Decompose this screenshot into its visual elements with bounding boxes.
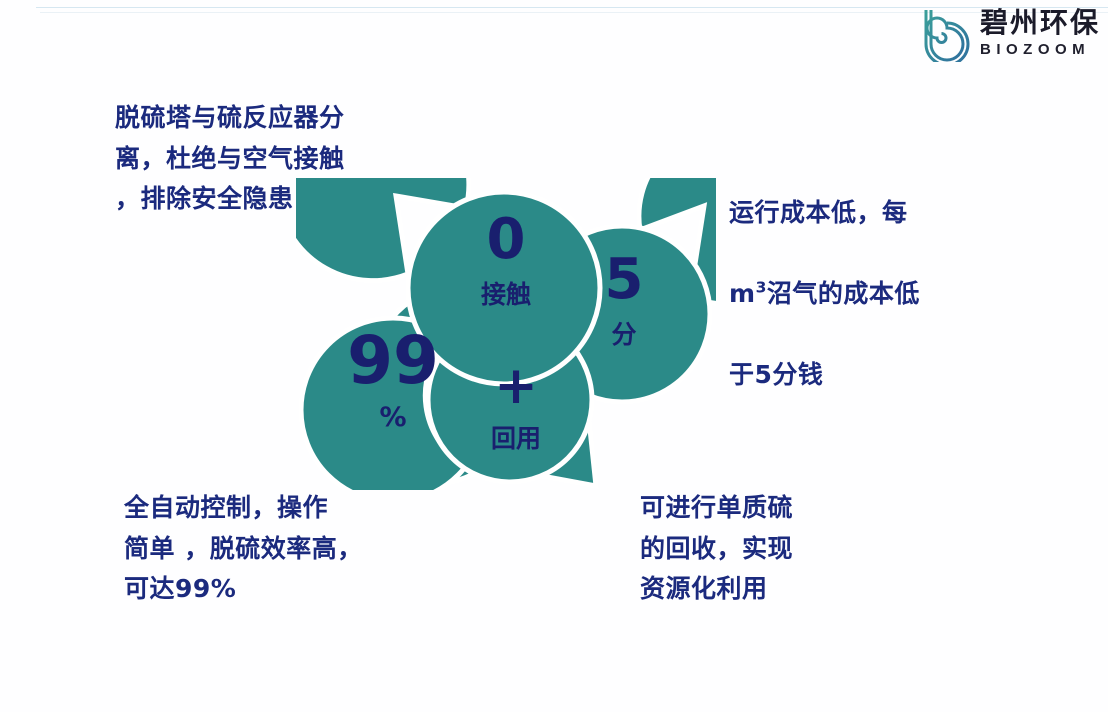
note-top-right-unit-exponent: 3: [756, 278, 767, 296]
note-bottom-left: 全自动控制，操作 简单 ，脱硫效率高， 可达99%: [124, 488, 424, 610]
brand-name-en: BIOZOOM: [980, 42, 1090, 57]
brand-name-cn: 碧州环保: [980, 9, 1100, 37]
note-bottom-right: 可进行单质硫 的回收，实现 资源化利用: [640, 488, 880, 610]
note-top-right-line-3: 于5分钱: [729, 360, 823, 389]
speech-bubble-cluster: 0 接触 5 分 99 % + 回用: [296, 178, 716, 490]
brand-logo: 碧州环保 BIOZOOM: [921, 4, 1100, 62]
note-top-right-unit-m: m: [729, 279, 756, 308]
note-top-right-line-2: 沼气的成本低: [767, 279, 920, 308]
brand-logo-text: 碧州环保 BIOZOOM: [980, 9, 1100, 57]
note-top-right: 运行成本低，每 m3沼气的成本低 于5分钱: [729, 152, 979, 395]
slide-canvas: 碧州环保 BIOZOOM 脱硫塔与硫反应器分 离，杜绝与空气接触 ，排除安全隐患…: [0, 0, 1108, 712]
note-top-right-line-1: 运行成本低，每: [729, 198, 908, 227]
bubble-zero-contact: [296, 178, 716, 490]
biozoom-spiral-b-logo-icon: [921, 4, 973, 62]
